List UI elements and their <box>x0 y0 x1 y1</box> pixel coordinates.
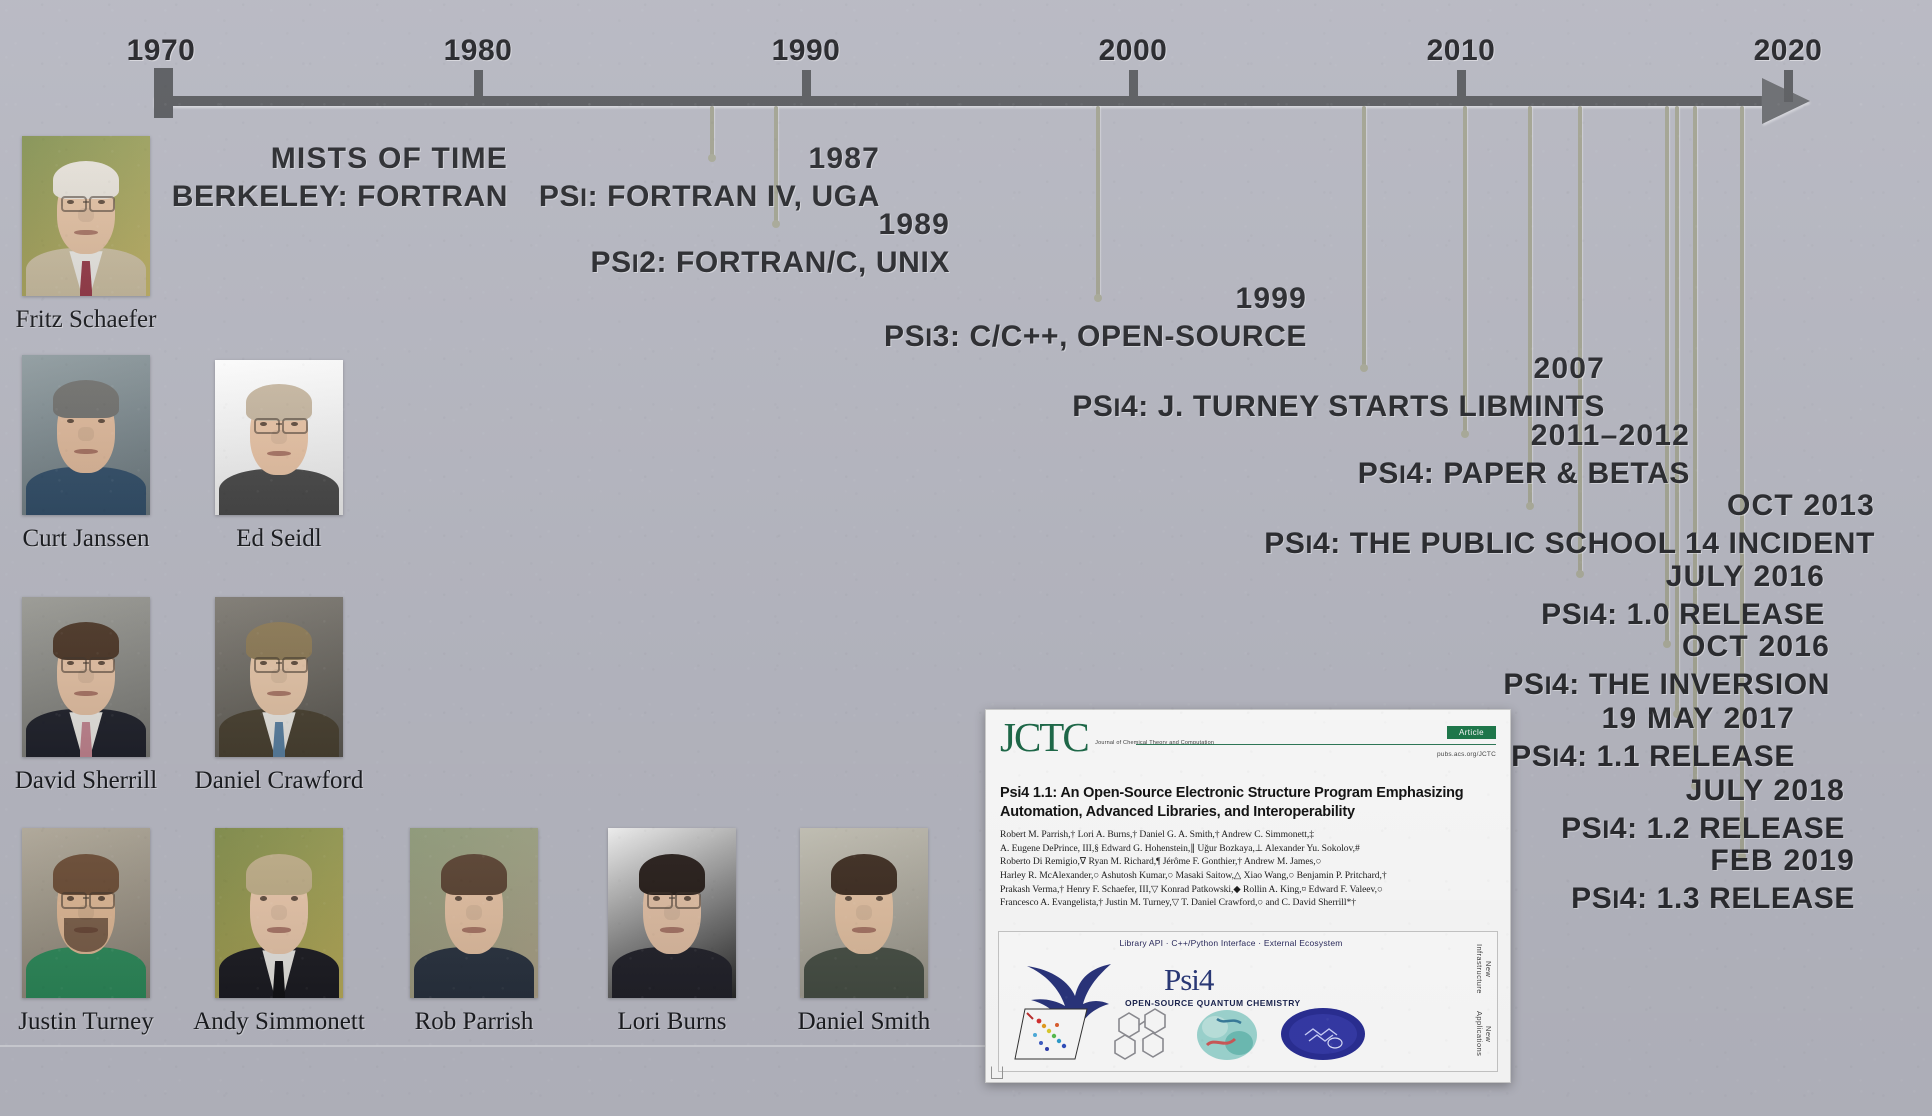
portrait-photo <box>215 360 343 515</box>
timeline-axis <box>154 96 1790 106</box>
portrait-photo <box>22 597 150 757</box>
jctc-paper-title: Psi4 1.1: An Open-Source Electronic Stru… <box>986 780 1510 821</box>
portrait-photo <box>410 828 538 998</box>
axis-tick-label-2020: 2020 <box>1754 34 1823 68</box>
event-1999: 1999PSI3: C/C++, OPEN-SOURCE <box>0 280 1307 355</box>
axis-tick-1990 <box>802 70 811 102</box>
portrait-photo <box>800 828 928 998</box>
jctc-pubs-url[interactable]: pubs.acs.org/JCTC <box>1437 751 1496 758</box>
thumbnail-molecular-crystal-icon <box>1105 1005 1179 1063</box>
jctc-header-rule <box>1136 744 1496 745</box>
portrait-card <box>22 828 150 998</box>
axis-tick-label-1970: 1970 <box>127 34 196 68</box>
axis-tick-label-1980: 1980 <box>444 34 513 68</box>
portrait-photo <box>22 355 150 515</box>
portrait-photo <box>22 828 150 998</box>
portrait-card <box>800 828 928 998</box>
psi4-wordmark: Psi4 <box>1164 962 1213 998</box>
portrait-caption: Ed Seidl <box>236 525 321 553</box>
jctc-author-line: Robert M. Parrish,† Lori A. Burns,† Dani… <box>1000 828 1496 842</box>
portrait-card <box>215 360 343 515</box>
jctc-author-line: Francesco A. Evangelista,† Justin M. Tur… <box>1000 896 1496 910</box>
portrait-caption: David Sherrill <box>15 767 157 795</box>
portrait-caption: Andy Simmonett <box>193 1008 365 1036</box>
jctc-header: JCTC Journal of Chemical Theory and Comp… <box>986 710 1510 780</box>
jctc-corner-mark-icon <box>991 1066 1003 1079</box>
portrait-card <box>22 597 150 757</box>
event-year-1999: 1999 <box>0 280 1307 318</box>
leader-line-2007 <box>1362 106 1366 368</box>
portrait-caption: Justin Turney <box>18 1008 153 1036</box>
leader-line-1999 <box>1096 106 1100 298</box>
portrait-caption: Daniel Smith <box>798 1008 931 1036</box>
portrait-caption: Lori Burns <box>617 1008 726 1036</box>
thumbnail-protein-surface-icon <box>1191 1005 1265 1063</box>
axis-tick-label-2010: 2010 <box>1427 34 1496 68</box>
axis-tick-2020 <box>1784 70 1793 102</box>
jctc-author-line: Prakash Verma,† Henry F. Schaefer, III,▽… <box>1000 883 1496 897</box>
axis-tick-1970 <box>154 68 173 118</box>
axis-tick-2010 <box>1457 70 1466 102</box>
jctc-logo-subtitle: Journal of Chemical Theory and Computati… <box>1095 740 1214 746</box>
thumbnail-blue-orbital-icon <box>1277 1005 1369 1063</box>
toc-side-label-applications: New Applications <box>1475 1003 1493 1065</box>
axis-tick-label-2000: 2000 <box>1099 34 1168 68</box>
portrait-caption: Fritz Schaefer <box>16 306 157 334</box>
portrait-card <box>22 136 150 296</box>
portrait-photo <box>215 828 343 998</box>
portrait-photo <box>22 136 150 296</box>
portrait-photo <box>215 597 343 757</box>
jctc-paper-cover[interactable]: JCTC Journal of Chemical Theory and Comp… <box>985 709 1511 1083</box>
portrait-caption: Rob Parrish <box>415 1008 534 1036</box>
axis-tick-1980 <box>474 70 483 102</box>
jctc-author-line: Roberto Di Remigio,∇ Ryan M. Richard,¶ J… <box>1000 855 1496 869</box>
jctc-author-line: A. Eugene DePrince, III,§ Edward G. Hohe… <box>1000 842 1496 856</box>
event-year-2016jul: JULY 2016 <box>0 558 1825 596</box>
portrait-photo <box>608 828 736 998</box>
portrait-divider <box>0 1045 1040 1047</box>
portrait-caption: Curt Janssen <box>22 525 149 553</box>
jctc-logo: JCTC <box>1000 718 1088 757</box>
portrait-card <box>410 828 538 998</box>
jctc-toc-graphic: Library API · C++/Python Interface · Ext… <box>998 931 1498 1072</box>
jctc-author-line: Harley R. McAlexander,○ Ashutosh Kumar,○… <box>1000 869 1496 883</box>
portrait-card <box>22 355 150 515</box>
jctc-article-badge: Article <box>1447 726 1496 739</box>
portrait-card <box>215 828 343 998</box>
portrait-card <box>215 597 343 757</box>
axis-tick-2000 <box>1129 70 1138 102</box>
jctc-author-list: Robert M. Parrish,† Lori A. Burns,† Dani… <box>986 821 1510 910</box>
portrait-caption: Daniel Crawford <box>195 767 364 795</box>
portrait-card <box>608 828 736 998</box>
thumbnail-rainbow-plot-icon <box>1013 1005 1091 1063</box>
axis-tick-label-1990: 1990 <box>772 34 841 68</box>
toc-side-label-infrastructure: New Infrastructure <box>1475 938 1493 1000</box>
